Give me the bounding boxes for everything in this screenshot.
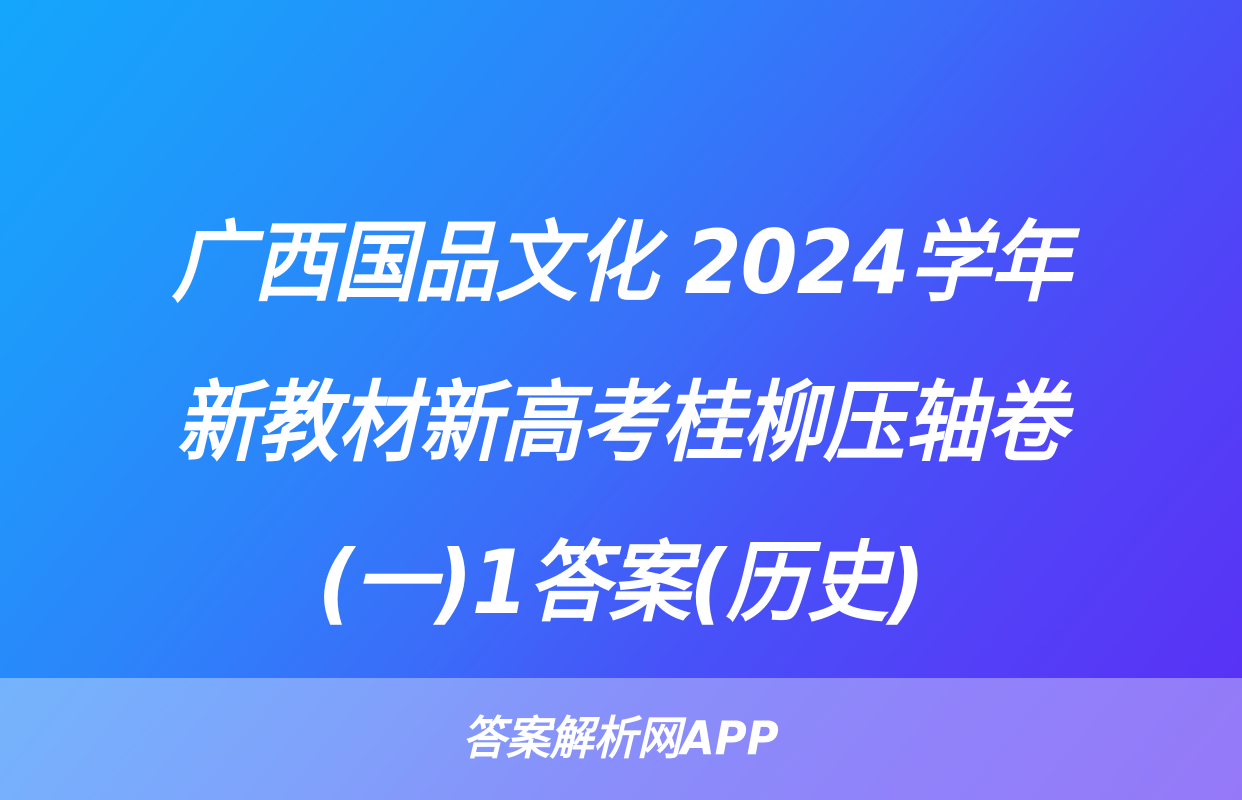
footer-watermark-band: 答案解析网APP	[0, 678, 1242, 800]
title-line-1: 广西国品文化 2024学年	[86, 183, 1156, 343]
page-title: 广西国品文化 2024学年 新教材新高考桂柳压轴卷 (一)1答案(历史)	[0, 183, 1242, 663]
title-line-2: 新教材新高考桂柳压轴卷	[86, 343, 1156, 503]
title-line-3: (一)1答案(历史)	[86, 503, 1156, 663]
share-poster-card: 广西国品文化 2024学年 新教材新高考桂柳压轴卷 (一)1答案(历史) 答案解…	[0, 0, 1242, 800]
app-watermark-label: 答案解析网APP	[463, 715, 779, 763]
